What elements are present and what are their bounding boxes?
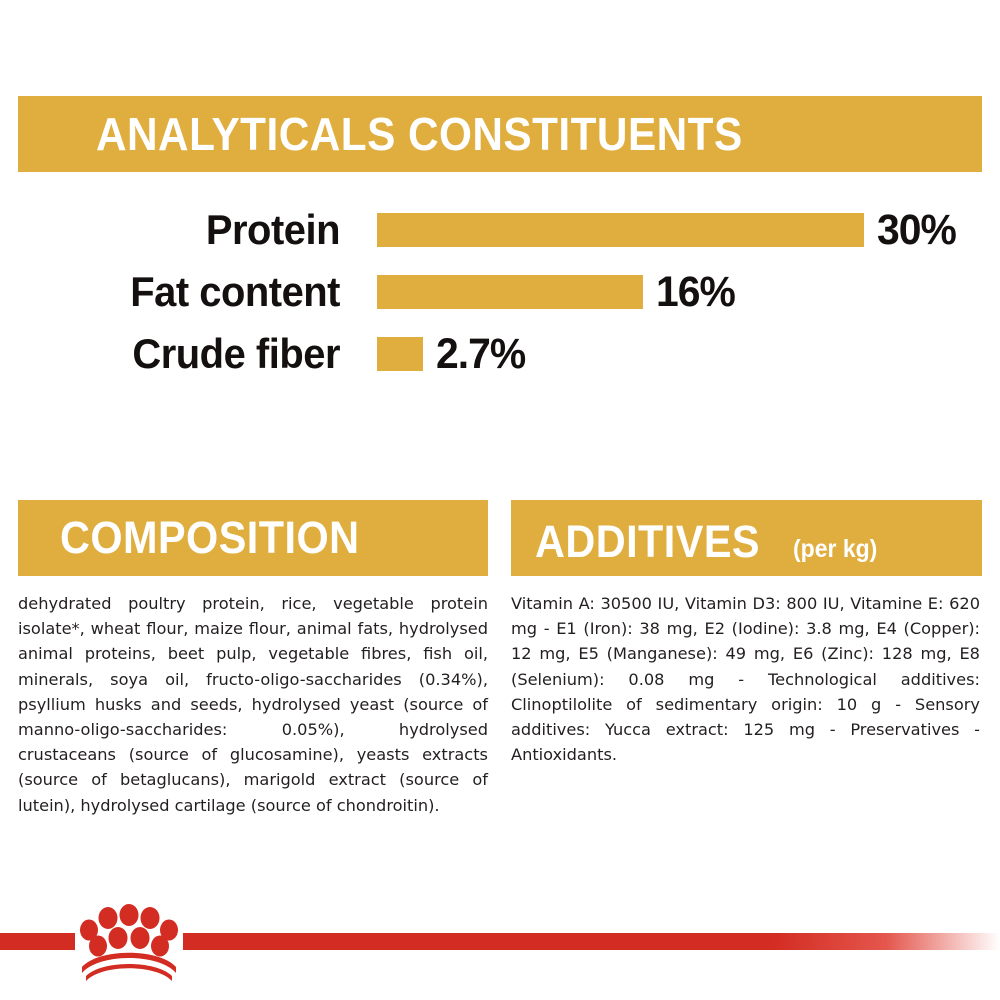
footer-rule-left (0, 933, 75, 950)
additives-banner: ADDITIVES (per kg) (511, 500, 982, 576)
analyticals-constituents-banner: ANALYTICALS CONSTITUENTS (18, 96, 982, 172)
bar-fill-protein (377, 213, 864, 247)
additives-banner-subtitle: (per kg) (793, 535, 877, 564)
bar-label-protein: Protein (17, 206, 340, 254)
bar-value-fat-content: 16% (656, 268, 735, 317)
bar-fill-fat-content (377, 275, 643, 309)
additives-banner-title: ADDITIVES (535, 516, 760, 568)
bar-track-fat-content: 16% (377, 275, 739, 309)
analyticals-bar-chart: Protein 30% Fat content 16% Crude fiber … (0, 196, 1000, 386)
composition-text: dehydrated poultry protein, rice, vegeta… (18, 591, 488, 818)
royal-canin-crown-icon (75, 901, 183, 983)
additives-text: Vitamin A: 30500 IU, Vitamin D3: 800 IU,… (511, 591, 980, 767)
bar-fill-crude-fiber (377, 337, 423, 371)
bar-track-protein: 30% (377, 213, 960, 247)
composition-banner-title: COMPOSITION (60, 512, 359, 564)
bar-value-protein: 30% (877, 206, 956, 255)
bar-label-crude-fiber: Crude fiber (17, 330, 340, 378)
footer-rule-right (183, 933, 1000, 950)
bar-value-crude-fiber: 2.7% (436, 330, 525, 379)
chart-row-fat-content: Fat content 16% (0, 266, 1000, 318)
bar-label-fat-content: Fat content (17, 268, 340, 316)
chart-row-crude-fiber: Crude fiber 2.7% (0, 328, 1000, 380)
chart-row-protein: Protein 30% (0, 204, 1000, 256)
analyticals-banner-title: ANALYTICALS CONSTITUENTS (96, 107, 743, 161)
composition-banner: COMPOSITION (18, 500, 488, 576)
bar-track-crude-fiber: 2.7% (377, 337, 530, 371)
footer-logo-strip (0, 893, 1000, 1000)
